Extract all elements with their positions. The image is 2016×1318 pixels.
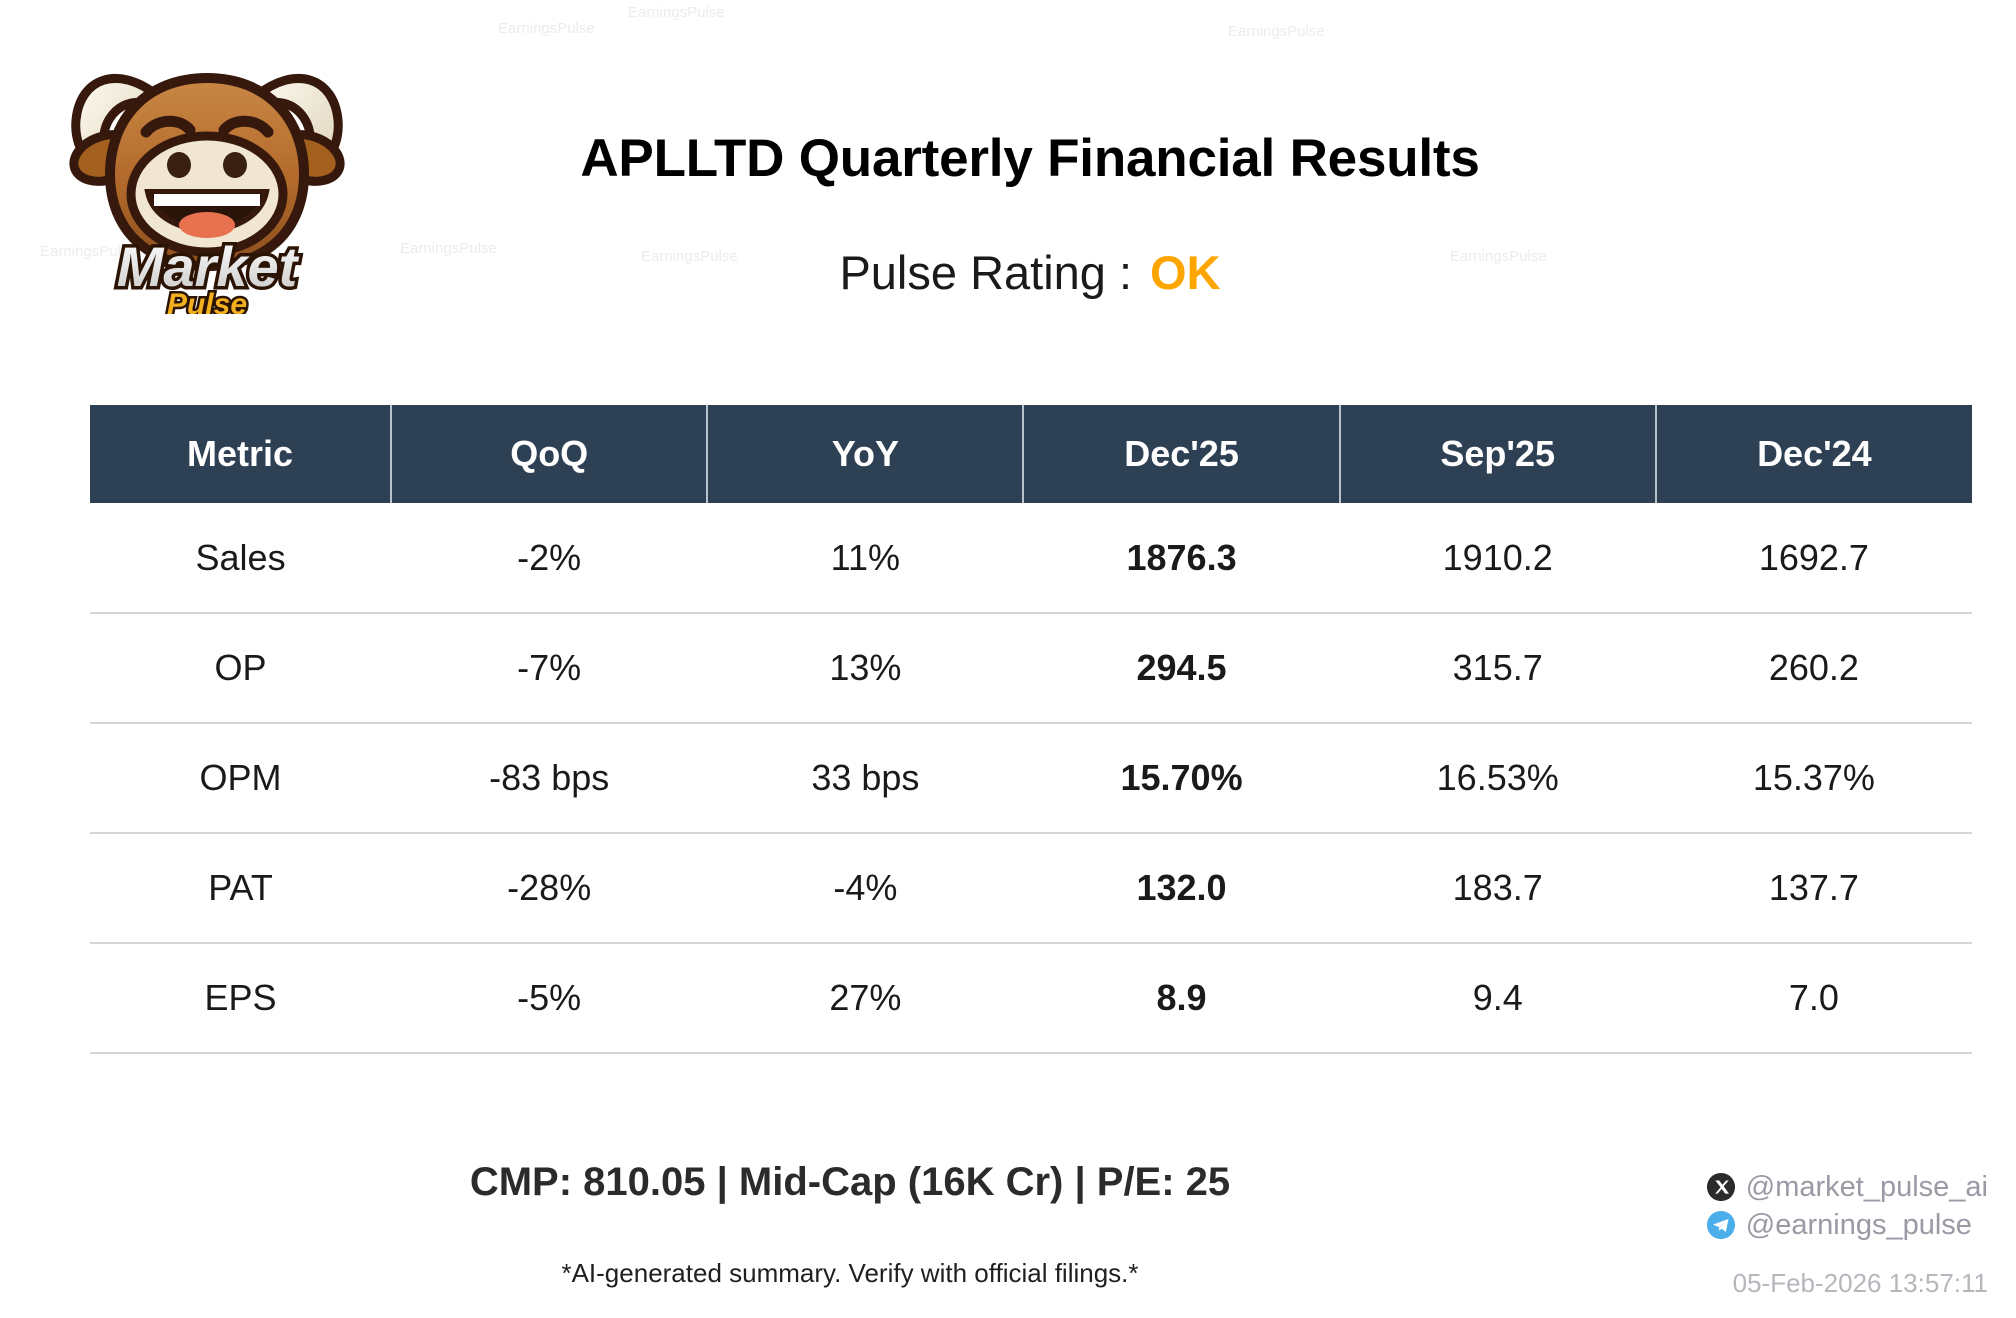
table-header-row: Metric QoQ YoY Dec'25 Sep'25 Dec'24 [90,405,1972,503]
cell-sep25: 16.53% [1340,723,1656,833]
cell-qoq: -83 bps [391,723,707,833]
cell-dec24: 1692.7 [1656,503,1972,613]
cell-sep25: 183.7 [1340,833,1656,943]
cell-qoq: -2% [391,503,707,613]
table-row: Sales-2%11%1876.31910.21692.7 [90,503,1972,613]
watermark: EarningsPulse [1228,23,1325,40]
cell-dec25: 8.9 [1023,943,1339,1053]
pulse-rating-value: OK [1150,246,1221,299]
social-handle-x: @market_pulse_ai [1746,1171,1988,1204]
page-title: APLLTD Quarterly Financial Results [330,128,1730,189]
cell-yoy: 13% [707,613,1023,723]
column-header-metric: Metric [90,405,391,503]
logo-text-pulse: Pulse [167,288,247,314]
cell-dec25: 132.0 [1023,833,1339,943]
cell-yoy: -4% [707,833,1023,943]
cell-yoy: 11% [707,503,1023,613]
cell-dec24: 137.7 [1656,833,1972,943]
column-header-sep25: Sep'25 [1340,405,1656,503]
cell-yoy: 33 bps [707,723,1023,833]
social-row-telegram[interactable]: @earnings_pulse [1706,1206,1988,1244]
column-header-yoy: YoY [707,405,1023,503]
table-row: EPS-5%27%8.99.47.0 [90,943,1972,1053]
watermark: EarningsPulse [498,20,595,37]
pulse-rating-line: Pulse Rating :OK [330,245,1730,300]
cell-metric: Sales [90,503,391,613]
table-row: OPM-83 bps33 bps15.70%16.53%15.37% [90,723,1972,833]
cell-yoy: 27% [707,943,1023,1053]
table-row: OP-7%13%294.5315.7260.2 [90,613,1972,723]
social-handles: @market_pulse_ai @earnings_pulse [1706,1168,1988,1244]
social-row-x[interactable]: @market_pulse_ai [1706,1168,1988,1206]
x-twitter-icon [1706,1172,1736,1202]
cell-metric: EPS [90,943,391,1053]
cell-dec24: 260.2 [1656,613,1972,723]
pulse-rating-label: Pulse Rating : [839,246,1132,299]
cell-sep25: 9.4 [1340,943,1656,1053]
watermark: EarningsPulse [628,4,725,21]
table-row: PAT-28%-4%132.0183.7137.7 [90,833,1972,943]
cell-metric: OP [90,613,391,723]
cell-dec24: 7.0 [1656,943,1972,1053]
column-header-dec25: Dec'25 [1023,405,1339,503]
cell-dec24: 15.37% [1656,723,1972,833]
disclaimer-text: *AI-generated summary. Verify with offic… [0,1258,1700,1289]
table-body: Sales-2%11%1876.31910.21692.7OP-7%13%294… [90,503,1972,1053]
generated-timestamp: 05-Feb-2026 13:57:11 [1733,1268,1988,1299]
social-handle-telegram: @earnings_pulse [1746,1209,1972,1242]
cell-sep25: 315.7 [1340,613,1656,723]
financial-results-table: Metric QoQ YoY Dec'25 Sep'25 Dec'24 Sale… [90,405,1972,1054]
financial-results-table-wrap: Metric QoQ YoY Dec'25 Sep'25 Dec'24 Sale… [90,405,1972,1054]
cell-dec25: 1876.3 [1023,503,1339,613]
cell-dec25: 294.5 [1023,613,1339,723]
cell-qoq: -7% [391,613,707,723]
cmp-summary-line: CMP: 810.05 | Mid-Cap (16K Cr) | P/E: 25 [0,1160,1700,1205]
column-header-dec24: Dec'24 [1656,405,1972,503]
cell-sep25: 1910.2 [1340,503,1656,613]
cell-dec25: 15.70% [1023,723,1339,833]
market-pulse-bull-logo: Market Pulse [62,34,352,314]
cell-metric: OPM [90,723,391,833]
cell-metric: PAT [90,833,391,943]
column-header-qoq: QoQ [391,405,707,503]
cell-qoq: -28% [391,833,707,943]
results-card: EarningsPulseEarningsPulseEarningsPulseE… [0,0,2016,1318]
telegram-icon [1706,1210,1736,1240]
cell-qoq: -5% [391,943,707,1053]
